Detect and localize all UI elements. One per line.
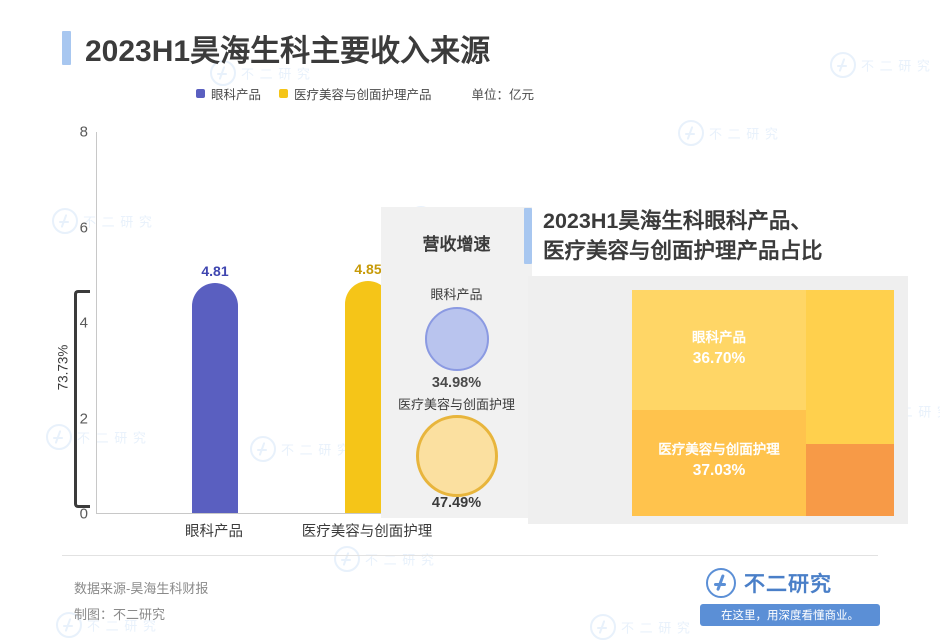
title-accent-bar: [62, 31, 71, 65]
watermark: 不 二 研 究: [590, 614, 691, 640]
treemap-title-accent-bar: [524, 208, 532, 264]
treemap-tile-medical[interactable]: 医疗美容与创面护理 37.03%: [632, 410, 806, 516]
legend-label: 眼科产品: [211, 84, 261, 103]
growth-panel: 营收增速 眼科产品 34.98% 医疗美容与创面护理 47.49%: [381, 207, 532, 518]
legend-swatch-icon: [196, 89, 205, 98]
x-tick-label: 眼科产品: [185, 520, 243, 541]
watermark-text: 不 二 研 究: [621, 621, 691, 636]
brace-label: 73.73%: [55, 345, 70, 391]
growth-value-medical: 47.49%: [381, 495, 532, 511]
legend-item-eye[interactable]: 眼科产品: [196, 84, 261, 103]
treemap-tile-other-lower[interactable]: [806, 444, 894, 516]
treemap-tile-label: 眼科产品: [632, 328, 806, 348]
x-tick-label: 医疗美容与创面护理: [302, 520, 433, 541]
treemap-tile-other-upper[interactable]: [806, 290, 894, 444]
watermark-text: 不 二 研 究: [709, 127, 779, 142]
data-source-text: 数据来源-昊海生科财报: [74, 578, 208, 597]
legend-unit: 单位：亿元: [472, 84, 535, 103]
page-title-text: 2023H1昊海生科主要收入来源: [85, 26, 490, 70]
treemap-tile-label: 医疗美容与创面护理: [632, 440, 806, 460]
bar-value-label: 4.81: [201, 263, 228, 279]
treemap-title-line2: 医疗美容与创面护理产品占比: [543, 236, 823, 266]
legend-swatch-icon: [279, 89, 288, 98]
legend-item-medical[interactable]: 医疗美容与创面护理产品: [279, 84, 432, 103]
treemap-tile-value: 36.70%: [632, 348, 806, 370]
watermark-logo-icon: [830, 52, 856, 78]
treemap-tiles: 眼科产品 36.70% 医疗美容与创面护理 37.03%: [632, 290, 894, 516]
growth-value-eye: 34.98%: [381, 375, 532, 391]
page-title: 2023H1昊海生科主要收入来源: [62, 26, 490, 70]
y-tick-label: 0: [80, 506, 88, 523]
watermark-logo-icon: [590, 614, 616, 640]
x-axis-labels: 眼科产品 医疗美容与创面护理: [96, 520, 590, 544]
chart-credit-text: 制图：不二研究: [74, 604, 165, 623]
treemap-panel: 眼科产品 36.70% 医疗美容与创面护理 37.03%: [528, 276, 908, 524]
watermark-logo-icon: [678, 120, 704, 146]
growth-label-medical: 医疗美容与创面护理: [381, 394, 532, 413]
treemap-title-line1: 2023H1昊海生科眼科产品、: [543, 206, 823, 236]
watermark: 不 二 研 究: [678, 120, 779, 146]
legend-label: 医疗美容与创面护理产品: [294, 84, 432, 103]
brand-header: 不二研究: [700, 566, 880, 600]
growth-label-eye: 眼科产品: [381, 284, 532, 303]
brace-bracket-icon: [74, 290, 90, 508]
divider: [62, 555, 878, 556]
y-tick-label: 6: [80, 219, 88, 236]
watermark: 不 二 研 究: [334, 546, 435, 572]
treemap-tile-value: 37.03%: [632, 460, 806, 482]
bar-value-label: 4.85: [354, 261, 381, 277]
growth-bubble-eye[interactable]: [425, 307, 489, 371]
growth-bubble-medical[interactable]: [416, 415, 498, 497]
watermark: 不 二 研 究: [830, 52, 931, 78]
treemap-title: 2023H1昊海生科眼科产品、 医疗美容与创面护理产品占比: [524, 206, 823, 266]
y-tick-label: 8: [80, 124, 88, 141]
table-row[interactable]: [192, 283, 238, 513]
growth-panel-title: 营收增速: [381, 230, 532, 255]
treemap-tile-eye[interactable]: 眼科产品 36.70%: [632, 290, 806, 410]
chart-legend: 眼科产品 医疗美容与创面护理产品 单位：亿元: [196, 84, 534, 103]
brand-tagline: 在这里，用深度看懂商业。: [700, 604, 880, 626]
brand-logo-icon: [706, 568, 736, 598]
brand-name-text: 不二研究: [744, 568, 832, 598]
watermark-logo-icon: [334, 546, 360, 572]
watermark-text: 不 二 研 究: [861, 59, 931, 74]
brand-block: 不二研究 在这里，用深度看懂商业。: [700, 566, 880, 618]
